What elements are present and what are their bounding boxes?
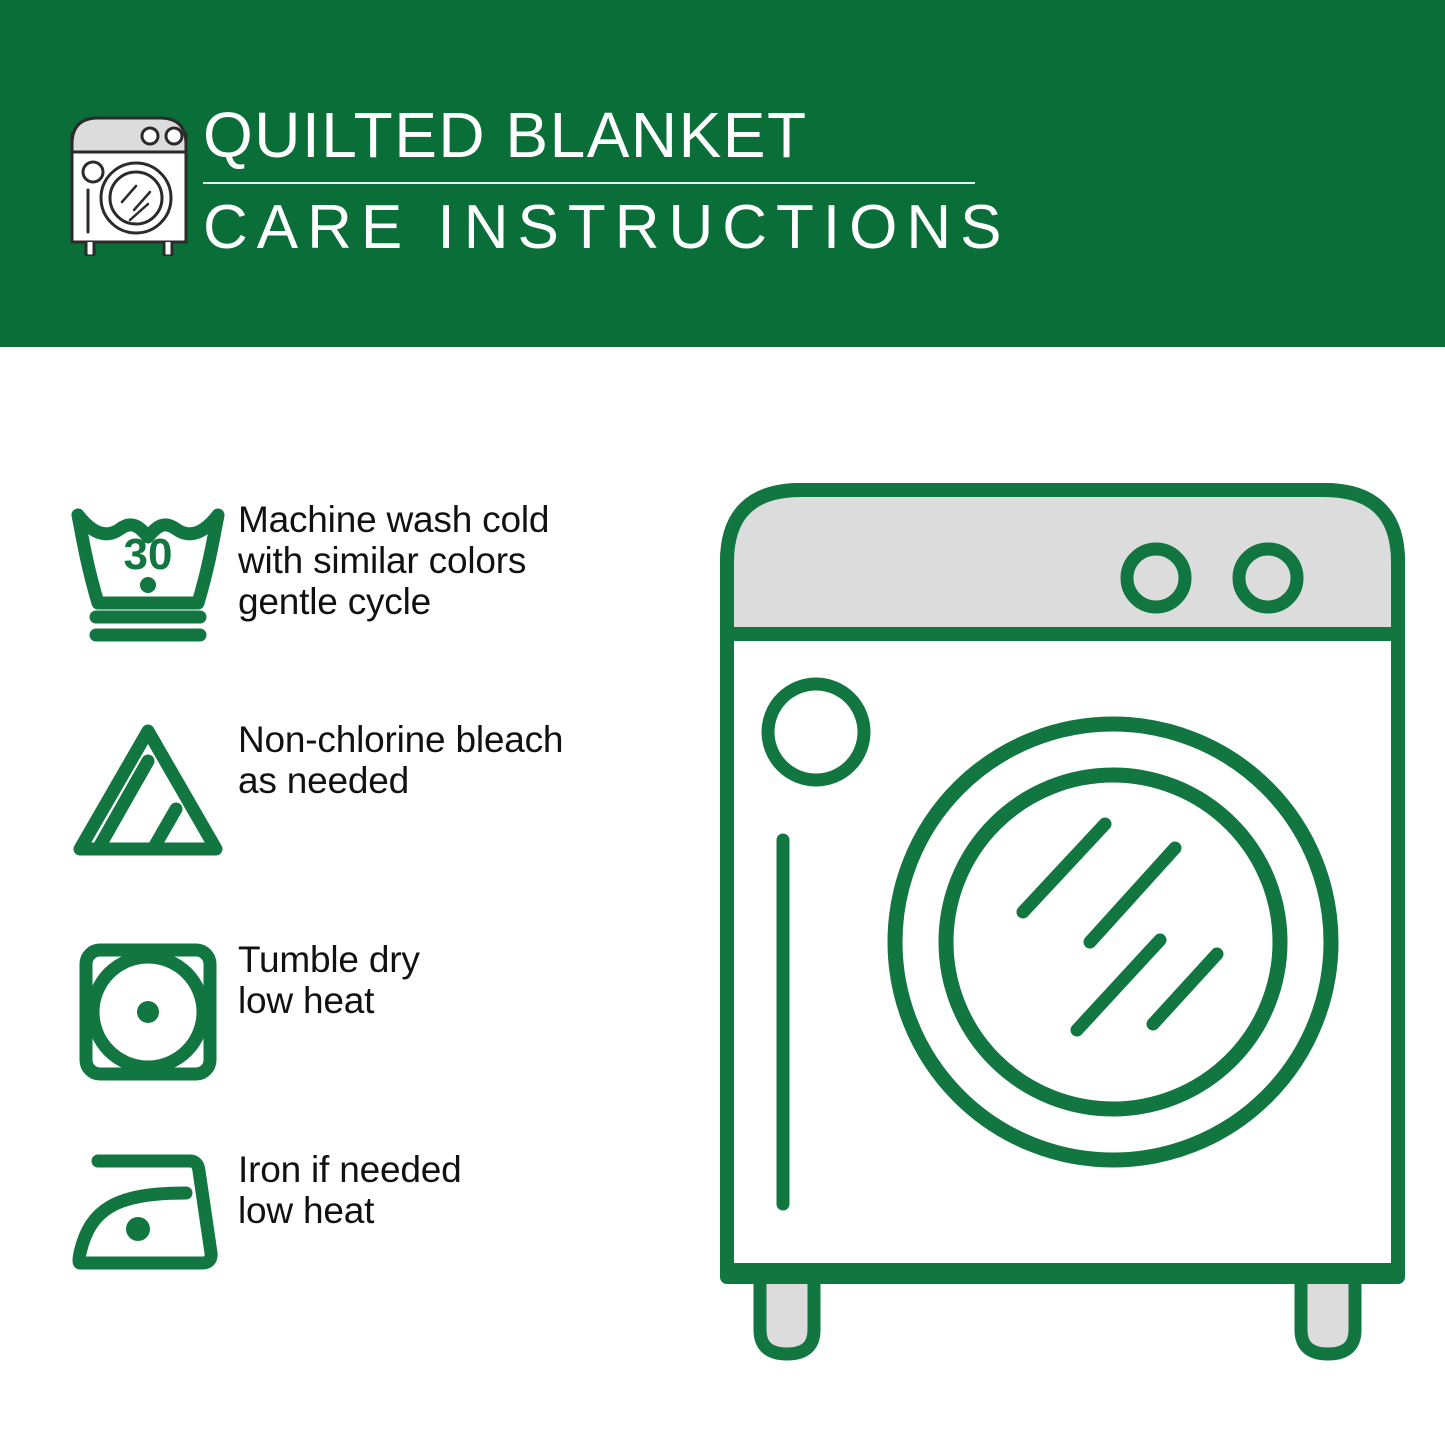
knob-left bbox=[1127, 549, 1185, 607]
detergent-dispenser-circle bbox=[768, 684, 864, 780]
care-label-line: with similar colors bbox=[238, 540, 549, 581]
page-subtitle: CARE INSTRUCTIONS bbox=[203, 190, 993, 266]
care-label-line: Tumble dry bbox=[238, 939, 420, 980]
header-text-block: QUILTED BLANKET CARE INSTRUCTIONS bbox=[203, 98, 993, 266]
care-row-machine-wash: 30 Machine wash cold with similar colors… bbox=[58, 497, 549, 649]
care-label-line: Iron if needed bbox=[238, 1149, 461, 1190]
iron-low-heat-icon bbox=[58, 1147, 238, 1275]
care-label-tumble-dry: Tumble dry low heat bbox=[238, 937, 420, 1021]
care-symbol-list: 30 Machine wash cold with similar colors… bbox=[0, 347, 700, 1445]
care-label-iron: Iron if needed low heat bbox=[238, 1147, 461, 1231]
care-label-bleach: Non-chlorine bleach as needed bbox=[238, 717, 563, 801]
header-banner: QUILTED BLANKET CARE INSTRUCTIONS bbox=[0, 0, 1445, 347]
care-label-line: as needed bbox=[238, 760, 563, 801]
care-label-line: gentle cycle bbox=[238, 581, 549, 622]
page-title: QUILTED BLANKET bbox=[203, 98, 993, 172]
care-label-machine-wash: Machine wash cold with similar colors ge… bbox=[238, 497, 549, 622]
care-row-bleach: Non-chlorine bleach as needed bbox=[58, 717, 563, 867]
washing-machine-illustration bbox=[705, 462, 1420, 1377]
non-chlorine-bleach-triangle-icon bbox=[58, 717, 238, 867]
care-label-line: Machine wash cold bbox=[238, 499, 549, 540]
wash-tub-30-icon: 30 bbox=[58, 497, 238, 649]
tumble-dry-low-icon bbox=[58, 937, 238, 1087]
wash-temperature-value: 30 bbox=[124, 530, 173, 579]
knob-right bbox=[1239, 549, 1297, 607]
care-label-line: low heat bbox=[238, 980, 420, 1021]
care-label-line: Non-chlorine bleach bbox=[238, 719, 563, 760]
care-instructions-page: QUILTED BLANKET CARE INSTRUCTIONS 30 bbox=[0, 0, 1445, 1445]
washing-machine-icon bbox=[64, 104, 194, 256]
drum-inner-circle bbox=[946, 775, 1280, 1109]
care-label-line: low heat bbox=[238, 1190, 461, 1231]
care-row-tumble-dry: Tumble dry low heat bbox=[58, 937, 420, 1087]
care-row-iron: Iron if needed low heat bbox=[58, 1147, 461, 1275]
header-divider bbox=[203, 182, 975, 184]
